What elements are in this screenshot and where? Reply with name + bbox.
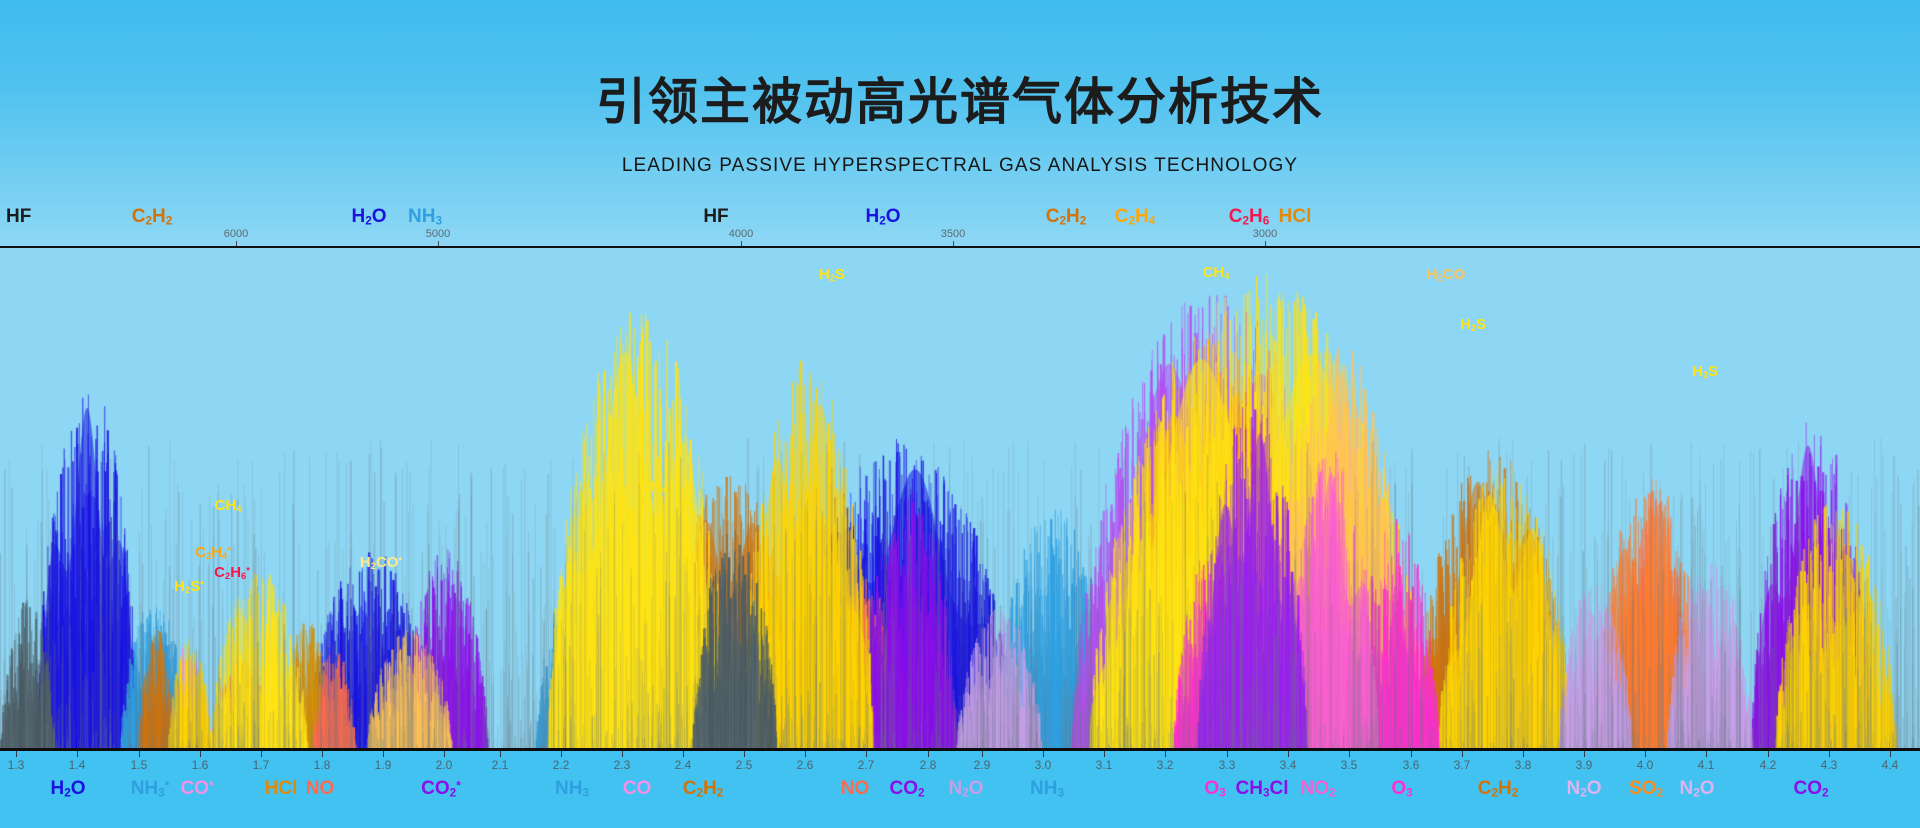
- top-gas-label-nh3: NH3: [408, 206, 442, 228]
- bottom-tick-label: 1.9: [375, 758, 392, 772]
- bottom-tick-label: 2.0: [436, 758, 453, 772]
- bottom-tick-label: 2.6: [797, 758, 814, 772]
- bottom-tick-mark: [500, 751, 501, 757]
- top-gas-label-h2o: H2O: [351, 206, 386, 228]
- hyperspectral-poster: 引领主被动高光谱气体分析技术 LEADING PASSIVE HYPERSPEC…: [0, 0, 1920, 828]
- bottom-tick-label: 2.1: [492, 758, 509, 772]
- bottom-tick-mark: [1890, 751, 1891, 757]
- bottom-gas-label-nh3: NH3: [1030, 778, 1064, 800]
- bottom-tick-mark: [444, 751, 445, 757]
- bottom-tick-mark: [1227, 751, 1228, 757]
- top-gas-label-c2h4: C2H4: [1115, 206, 1156, 228]
- bottom-gas-label-co: CO: [623, 778, 652, 800]
- bottom-gas-label-n2o: N2O: [1566, 778, 1601, 800]
- bottom-tick-mark: [1043, 751, 1044, 757]
- bottom-tick-label: 3.3: [1219, 758, 1236, 772]
- bottom-tick-label: 1.4: [69, 758, 86, 772]
- bottom-tick-mark: [1104, 751, 1105, 757]
- bottom-tick-mark: [1288, 751, 1289, 757]
- bottom-tick-mark: [261, 751, 262, 757]
- top-gas-label-c2h2: C2H2: [1046, 206, 1087, 228]
- bottom-tick-mark: [1645, 751, 1646, 757]
- header-band: 引领主被动高光谱气体分析技术 LEADING PASSIVE HYPERSPEC…: [0, 0, 1920, 248]
- bottom-tick-mark: [982, 751, 983, 757]
- bottom-tick-mark: [1462, 751, 1463, 757]
- bottom-gas-label-co: CO*: [180, 778, 213, 800]
- bottom-gas-label-nh3: NH3: [555, 778, 589, 800]
- bottom-tick-label: 4.3: [1821, 758, 1838, 772]
- bottom-gas-label-h2o: H2O: [50, 778, 85, 800]
- bottom-tick-mark: [1523, 751, 1524, 757]
- bottom-tick-mark: [1411, 751, 1412, 757]
- top-tick-label: 5000: [426, 228, 450, 240]
- bottom-tick-label: 3.5: [1341, 758, 1358, 772]
- bottom-tick-mark: [383, 751, 384, 757]
- bottom-tick-label: 3.1: [1096, 758, 1113, 772]
- top-gas-label-hf: HF: [6, 206, 31, 228]
- top-gas-label-h2o: H2O: [865, 206, 900, 228]
- bottom-gas-label-co2: CO2: [889, 778, 924, 800]
- bottom-tick-label: 1.8: [314, 758, 331, 772]
- bottom-gas-label-co2: CO2*: [421, 778, 461, 800]
- bottom-tick-label: 1.3: [8, 758, 25, 772]
- top-gas-label-hcl: HCl: [1279, 206, 1312, 228]
- bottom-tick-label: 2.8: [920, 758, 937, 772]
- bottom-tick-label: 2.7: [858, 758, 875, 772]
- bottom-tick-label: 1.7: [253, 758, 270, 772]
- bottom-tick-label: 4.2: [1760, 758, 1777, 772]
- bottom-gas-label-ch3cl: CH3Cl: [1236, 778, 1289, 800]
- bottom-tick-label: 1.6: [192, 758, 209, 772]
- bottom-gas-label-no: NO: [306, 778, 335, 800]
- bottom-tick-label: 3.7: [1454, 758, 1471, 772]
- bottom-gas-label-o3: O3: [1204, 778, 1225, 800]
- bottom-gas-label-so2: SO2: [1629, 778, 1663, 800]
- bottom-tick-mark: [1829, 751, 1830, 757]
- bottom-gas-label-n2o: N2O: [948, 778, 983, 800]
- bottom-tick-mark: [16, 751, 17, 757]
- bottom-tick-mark: [622, 751, 623, 757]
- bottom-tick-mark: [805, 751, 806, 757]
- bottom-tick-mark: [139, 751, 140, 757]
- bottom-tick-mark: [1706, 751, 1707, 757]
- bottom-tick-mark: [200, 751, 201, 757]
- page-title: 引领主被动高光谱气体分析技术: [0, 62, 1920, 134]
- bottom-tick-label: 3.8: [1515, 758, 1532, 772]
- bottom-tick-label: 2.3: [614, 758, 631, 772]
- bottom-gas-label-no: NO: [841, 778, 870, 800]
- spectrum-plot: CH4C2H4*C2H6*H2S*H2CO*CH4H2SCH4H2COH2SH2…: [0, 248, 1920, 748]
- top-gas-label-hf: HF: [703, 206, 728, 228]
- page-subtitle: LEADING PASSIVE HYPERSPECTRAL GAS ANALYS…: [0, 155, 1920, 177]
- bottom-tick-mark: [322, 751, 323, 757]
- bottom-gas-label-nh3: NH3*: [131, 778, 170, 800]
- top-gas-label-c2h2: C2H2: [132, 206, 173, 228]
- bottom-gas-label-c2h2: C2H2: [1478, 778, 1519, 800]
- bottom-tick-mark: [1768, 751, 1769, 757]
- bottom-tick-label: 3.2: [1157, 758, 1174, 772]
- top-tick-label: 3500: [941, 228, 965, 240]
- bottom-tick-label: 2.2: [553, 758, 570, 772]
- top-tick-label: 6000: [224, 228, 248, 240]
- bottom-tick-label: 2.5: [736, 758, 753, 772]
- bottom-gas-label-c2h2: C2H2: [683, 778, 724, 800]
- spectrum-canvas: [0, 248, 1920, 748]
- bottom-tick-mark: [1584, 751, 1585, 757]
- bottom-tick-label: 2.4: [675, 758, 692, 772]
- bottom-tick-mark: [1165, 751, 1166, 757]
- bottom-gas-label-hcl: HCl: [265, 778, 298, 800]
- bottom-gas-label-no2: NO2: [1300, 778, 1335, 800]
- bottom-tick-label: 3.9: [1576, 758, 1593, 772]
- bottom-tick-label: 3.6: [1403, 758, 1420, 772]
- top-gas-label-c2h6: C2H6: [1229, 206, 1270, 228]
- bottom-tick-mark: [561, 751, 562, 757]
- bottom-tick-mark: [1349, 751, 1350, 757]
- bottom-tick-mark: [744, 751, 745, 757]
- bottom-tick-mark: [77, 751, 78, 757]
- bottom-tick-label: 4.1: [1698, 758, 1715, 772]
- bottom-gas-label-o3: O3: [1391, 778, 1412, 800]
- top-tick-label: 4000: [729, 228, 753, 240]
- bottom-tick-label: 4.0: [1637, 758, 1654, 772]
- bottom-tick-label: 2.9: [974, 758, 991, 772]
- bottom-tick-mark: [928, 751, 929, 757]
- top-tick-label: 3000: [1253, 228, 1277, 240]
- bottom-tick-label: 3.4: [1280, 758, 1297, 772]
- bottom-tick-mark: [683, 751, 684, 757]
- bottom-gas-label-co2: CO2: [1793, 778, 1828, 800]
- bottom-tick-label: 3.0: [1035, 758, 1052, 772]
- bottom-gas-label-n2o: N2O: [1679, 778, 1714, 800]
- footer-band: 1.31.41.51.61.71.81.92.02.12.22.32.42.52…: [0, 751, 1920, 828]
- bottom-tick-label: 4.4: [1882, 758, 1899, 772]
- bottom-tick-mark: [866, 751, 867, 757]
- bottom-tick-label: 1.5: [131, 758, 148, 772]
